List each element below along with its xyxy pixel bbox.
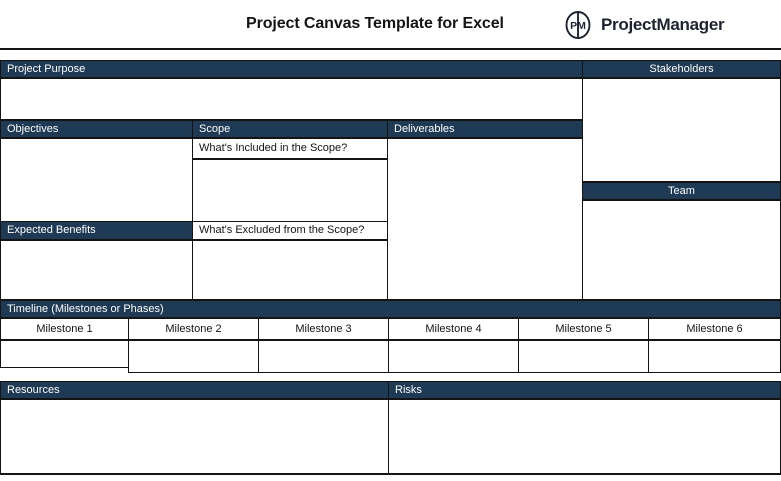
canvas-grid: Project Purpose Stakeholders Objectives … <box>0 48 781 473</box>
section-header-stakeholders: Stakeholders <box>582 60 781 78</box>
milestone-header-3: Milestone 3 <box>258 318 389 340</box>
project-purpose-input[interactable] <box>0 78 583 120</box>
page-title: Project Canvas Template for Excel <box>246 15 504 33</box>
resources-input[interactable] <box>0 399 389 475</box>
milestone-input-2[interactable] <box>128 340 259 373</box>
milestone-input-5[interactable] <box>518 340 649 373</box>
milestone-header-4: Milestone 4 <box>388 318 519 340</box>
milestone-header-6: Milestone 6 <box>648 318 781 340</box>
section-header-timeline: Timeline (Milestones or Phases) <box>0 300 781 318</box>
milestone-input-4[interactable] <box>388 340 519 373</box>
bottom-border <box>0 473 781 475</box>
project-canvas-template: Project Canvas Template for Excel PM Pro… <box>0 0 781 481</box>
section-header-objectives: Objectives <box>0 120 193 138</box>
objectives-input[interactable] <box>0 138 193 222</box>
deliverables-input[interactable] <box>387 138 583 300</box>
section-header-risks: Risks <box>388 381 781 399</box>
section-header-project-purpose: Project Purpose <box>0 60 583 78</box>
milestone-input-3[interactable] <box>258 340 389 373</box>
svg-text:PM: PM <box>570 20 586 32</box>
section-header-resources: Resources <box>0 381 389 399</box>
section-header-scope: Scope <box>192 120 388 138</box>
section-header-expected-benefits: Expected Benefits <box>0 221 193 240</box>
section-header-deliverables: Deliverables <box>387 120 583 138</box>
milestone-input-1[interactable] <box>0 340 129 368</box>
stakeholders-input[interactable] <box>582 78 781 182</box>
projectmanager-logo: PM ProjectManager <box>563 10 724 40</box>
brand-name: ProjectManager <box>601 15 724 35</box>
milestone-header-5: Milestone 5 <box>518 318 649 340</box>
milestone-header-1: Milestone 1 <box>0 318 129 340</box>
scope-included-label: What's Included in the Scope? <box>192 138 388 159</box>
expected-benefits-input[interactable] <box>0 240 193 300</box>
scope-excluded-label: What's Excluded from the Scope? <box>192 221 388 240</box>
milestone-input-6[interactable] <box>648 340 781 373</box>
risks-input[interactable] <box>388 399 781 475</box>
team-input[interactable] <box>582 200 781 300</box>
section-header-team: Team <box>582 182 781 200</box>
pm-circle-icon: PM <box>563 10 593 40</box>
milestone-header-2: Milestone 2 <box>128 318 259 340</box>
scope-included-input[interactable] <box>192 159 388 222</box>
scope-excluded-input[interactable] <box>192 240 388 300</box>
title-bar: Project Canvas Template for Excel PM Pro… <box>0 0 781 48</box>
